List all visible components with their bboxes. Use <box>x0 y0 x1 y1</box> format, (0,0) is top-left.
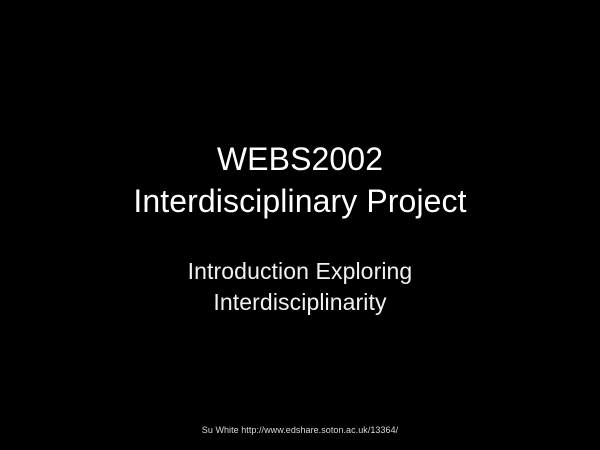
slide-title: WEBS2002 Interdisciplinary Project <box>0 138 600 222</box>
slide-footer: Su White http://www.edshare.soton.ac.uk/… <box>0 420 600 438</box>
footer-credit-text: Su White http://www.edshare.soton.ac.uk/… <box>202 424 398 436</box>
slide-subtitle: Introduction Exploring Interdisciplinari… <box>0 256 600 318</box>
presentation-slide: WEBS2002 Interdisciplinary Project Intro… <box>0 0 600 450</box>
title-line-1: WEBS2002 <box>0 138 600 180</box>
subtitle-line-2: Interdisciplinarity <box>0 287 600 318</box>
subtitle-line-1: Introduction Exploring <box>0 256 600 287</box>
title-line-2: Interdisciplinary Project <box>0 180 600 222</box>
